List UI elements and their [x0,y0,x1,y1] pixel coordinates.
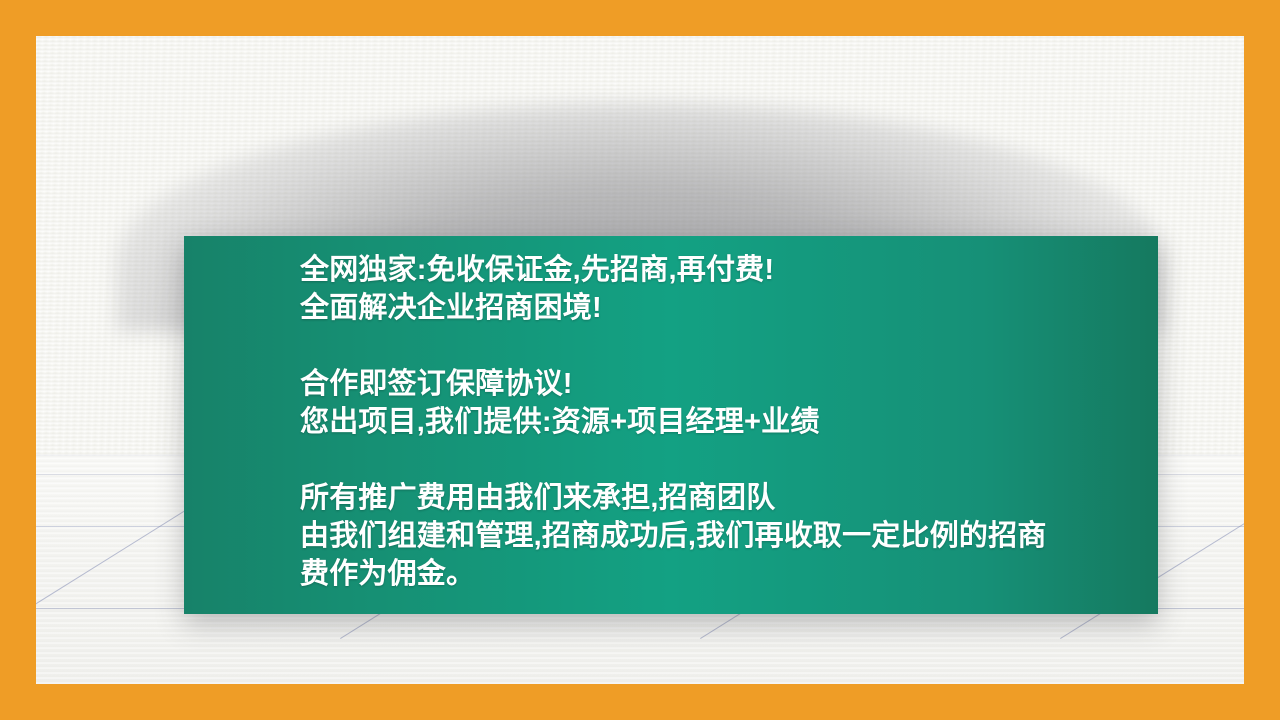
banner-line-2: 全面解决企业招商困境! [300,289,1144,327]
slide-root: 全网独家:免收保证金,先招商,再付费! 全面解决企业招商困境! 合作即签订保障协… [0,0,1280,720]
green-message-banner: 全网独家:免收保证金,先招商,再付费! 全面解决企业招商困境! 合作即签订保障协… [184,236,1158,614]
banner-line-spacer-1 [300,327,1144,365]
room-panel: 全网独家:免收保证金,先招商,再付费! 全面解决企业招商困境! 合作即签订保障协… [36,36,1244,684]
banner-line-4: 合作即签订保障协议! [300,365,1144,403]
banner-line-spacer-2 [300,441,1144,479]
banner-line-5: 您出项目,我们提供:资源+项目经理+业绩 [300,403,1144,441]
banner-text-block: 全网独家:免收保证金,先招商,再付费! 全面解决企业招商困境! 合作即签订保障协… [300,251,1144,593]
banner-line-9: 费作为佣金。 [300,555,1144,593]
banner-line-1: 全网独家:免收保证金,先招商,再付费! [300,251,1144,289]
banner-line-8: 由我们组建和管理,招商成功后,我们再收取一定比例的招商 [300,517,1144,555]
banner-line-7: 所有推广费用由我们来承担,招商团队 [300,479,1144,517]
